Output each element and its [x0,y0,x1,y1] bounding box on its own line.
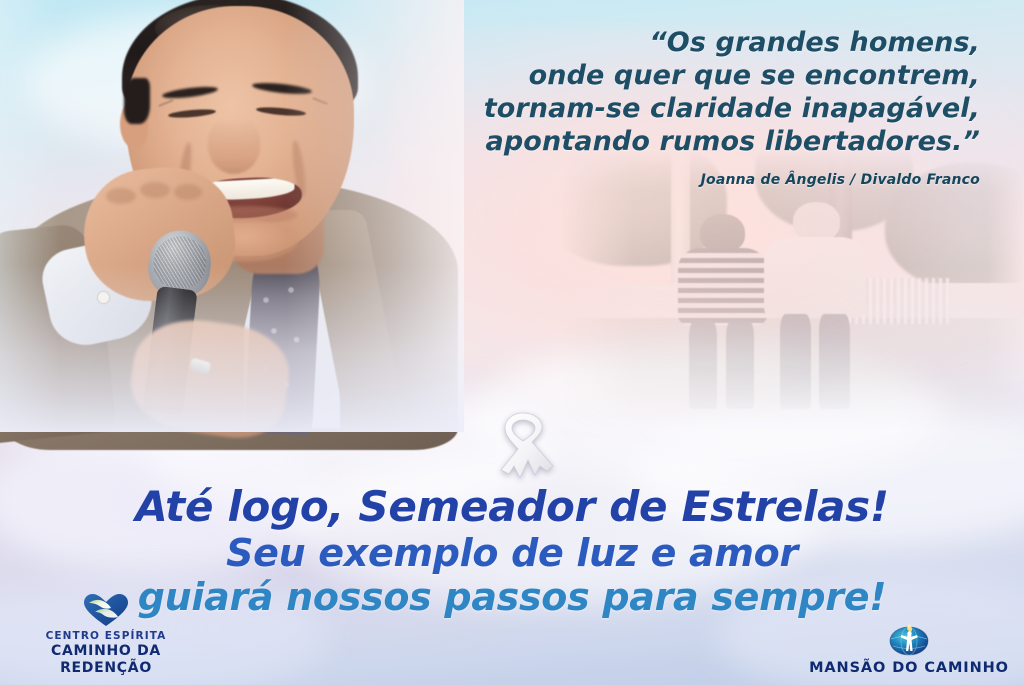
figure-leg [726,321,754,409]
portrait-knuckle [106,188,136,204]
quote-line: “Os grandes homens, [380,26,980,59]
globe-with-figure-and-flame-icon [887,621,931,657]
figure-leg [819,314,850,409]
quote-line: onde quer que se encontrem, [380,59,980,92]
portrait-nose [208,118,260,174]
logo-right-line-2: MANSÃO DO CAMINHO [804,660,1014,677]
background-scene-photo [560,150,1024,440]
figure-leg [780,314,811,409]
headline-line-1: Até logo, Semeador de Estrelas! [0,486,1024,528]
figure-head [793,202,840,241]
scene-figure-striped-shirt [676,214,769,405]
figure-torso [764,237,866,318]
headline-line-2: Seu exemplo de luz e amor [0,534,1024,572]
white-ribbon-icon [487,408,559,484]
figure-leg [689,321,717,409]
figure-head [700,214,745,252]
portrait-cuff-button [98,292,109,303]
quote-line: tornam-se claridade inapagável, [380,92,980,125]
logo-left-line-2: CAMINHO DA REDENÇÃO [8,643,204,677]
figure-torso [678,248,767,325]
portrait-sideburn [124,78,150,124]
quote-line: apontando rumos libertadores.” [380,125,980,158]
logo-left-line-1: CENTRO ESPÍRITA [8,630,204,643]
scene-figure-white-shirt [764,202,866,405]
portrait-knuckle [174,184,202,200]
quote-block: “Os grandes homens, onde quer que se enc… [380,26,980,188]
quote-attribution: Joanna de Ângelis / Divaldo Franco [380,172,980,188]
poster-canvas: “Os grandes homens, onde quer que se enc… [0,0,1024,685]
portrait-knuckle [140,182,170,198]
logo-centro-espirita: CENTRO ESPÍRITA CAMINHO DA REDENÇÃO [8,593,204,677]
logo-mansao-do-caminho: MANSÃO DO CAMINHO [804,621,1014,677]
heart-with-hands-icon [83,593,129,627]
